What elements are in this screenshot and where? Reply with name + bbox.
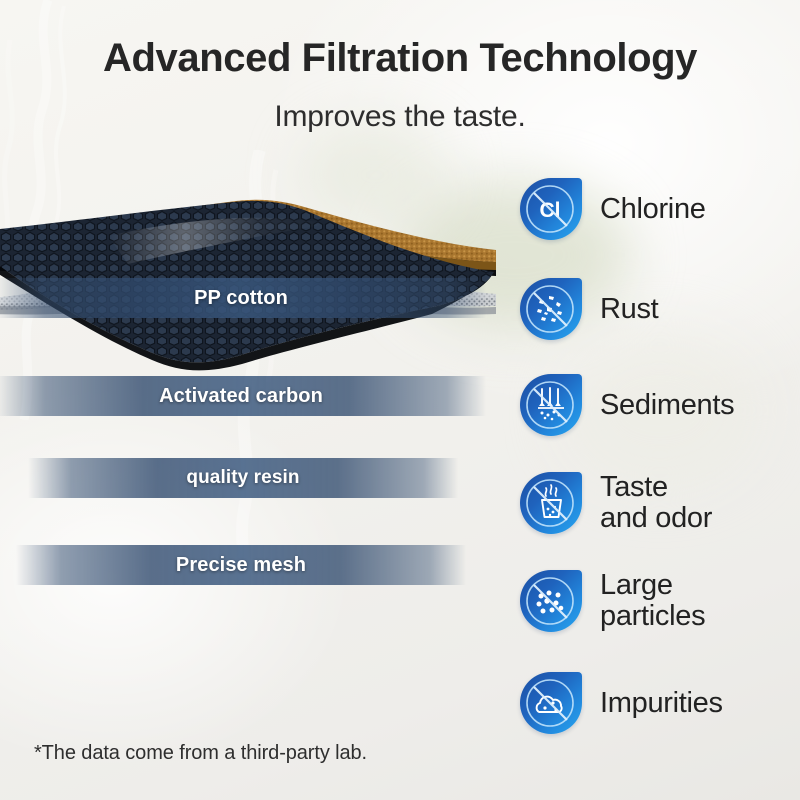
layer-label: PP cotton <box>194 287 288 310</box>
footnote: *The data come from a third-party lab. <box>34 742 367 765</box>
infographic-canvas: Advanced Filtration Technology Improves … <box>0 0 800 800</box>
list-item-label: Impurities <box>600 688 723 719</box>
no-rust-icon <box>520 278 582 340</box>
no-large-particles-icon <box>520 570 582 632</box>
no-taste-odor-icon <box>520 472 582 534</box>
list-item-label: Sediments <box>600 390 734 421</box>
list-item-sediments[interactable]: Sediments <box>520 374 734 436</box>
list-item-label: Large particles <box>600 570 705 631</box>
list-item-label: Chlorine <box>600 194 706 225</box>
list-item-large-particles[interactable]: Large particles <box>520 570 705 632</box>
layer-label-band: PP cotton <box>0 278 486 318</box>
no-impurities-icon <box>520 672 582 734</box>
layer-label: Activated carbon <box>159 385 323 408</box>
layer-label: quality resin <box>186 467 299 489</box>
list-item-label: Taste and odor <box>600 472 712 533</box>
list-item-label: Rust <box>600 294 658 325</box>
no-sediments-icon <box>520 374 582 436</box>
page-title: Advanced Filtration Technology <box>0 36 800 81</box>
list-item-chlorine[interactable]: Cl Chlorine <box>520 178 706 240</box>
list-item-taste-and-odor[interactable]: Taste and odor <box>520 472 712 534</box>
no-chlorine-icon: Cl <box>520 178 582 240</box>
list-item-impurities[interactable]: Impurities <box>520 672 723 734</box>
filter-layer-stack: PP cotton Activated carbon quality resin… <box>0 190 508 700</box>
layer-label: Precise mesh <box>176 554 306 577</box>
layer-label-band: Activated carbon <box>0 376 486 416</box>
layer-label-band: quality resin <box>28 458 458 498</box>
page-subtitle: Improves the taste. <box>0 100 800 134</box>
layer-label-band: Precise mesh <box>16 545 466 585</box>
list-item-rust[interactable]: Rust <box>520 278 658 340</box>
